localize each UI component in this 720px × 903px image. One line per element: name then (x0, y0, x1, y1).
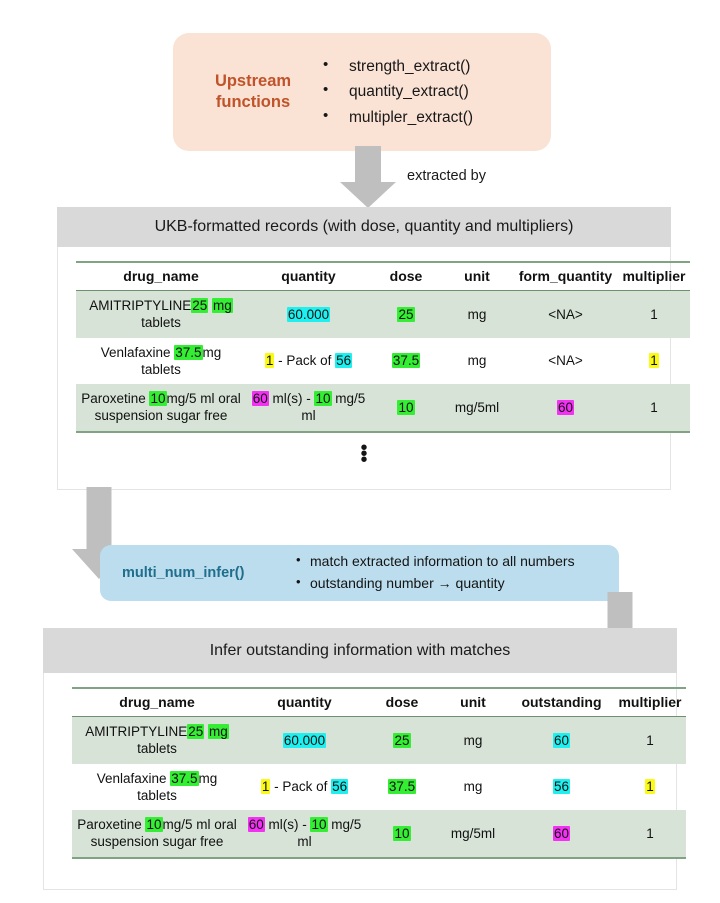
table-cell-multiplier: 1 (618, 384, 690, 432)
table-row: Paroxetine 10mg/5 ml oral suspension sug… (76, 384, 690, 432)
upstream-title-line-1: Upstream (191, 71, 315, 92)
ukb-records-panel-header: UKB-formatted records (with dose, quanti… (57, 207, 671, 247)
table-cell-quantity: 60.000 (242, 717, 367, 764)
table-row: AMITRIPTYLINE25 mg tablets60.00025mg601 (72, 717, 686, 764)
table-cell-outstanding: 60 (509, 717, 614, 764)
table-cell-dose: 25 (367, 717, 437, 764)
infer-bullet-label: outstanding number → quantity (310, 575, 505, 591)
table-cell-multiplier: 1 (618, 338, 690, 385)
column-header-drug-name: drug_name (72, 688, 242, 717)
table-cell-unit: mg (437, 717, 509, 764)
bullet-icon: • (323, 78, 328, 102)
table-cell-multiplier: 1 (614, 764, 686, 811)
bullet-icon: • (296, 572, 301, 592)
arrow-label-extracted-by: extracted by (407, 168, 486, 184)
multi-num-infer-function-name: multi_num_infer() (122, 565, 292, 581)
text-segment: - Pack of (274, 353, 335, 368)
infer-results-table: drug_name quantity dose unit outstanding… (72, 687, 686, 859)
highlight-green: mg (212, 298, 233, 313)
upstream-function-label: quantity_extract() (349, 83, 469, 100)
highlight-green: 37.5 (392, 353, 420, 368)
highlight-cyan: 56 (335, 353, 352, 368)
list-item: • outstanding number → quantity (310, 573, 575, 595)
bullet-icon: • (296, 550, 301, 570)
text-segment: tablets (137, 741, 177, 756)
highlight-yellow: 1 (645, 779, 655, 794)
table-cell-drug-name: Venlafaxine 37.5mg tablets (76, 338, 246, 385)
text-segment: 1 (646, 733, 654, 748)
table-cell-drug-name: AMITRIPTYLINE25 mg tablets (76, 291, 246, 338)
table-cell-drug-name: AMITRIPTYLINE25 mg tablets (72, 717, 242, 764)
table-cell-dose: 10 (367, 810, 437, 858)
text-segment: mg (468, 353, 487, 368)
highlight-cyan: 60.000 (283, 733, 326, 748)
table-row: Paroxetine 10mg/5 ml oral suspension sug… (72, 810, 686, 858)
table-row: Venlafaxine 37.5mg tablets1 - Pack of 56… (76, 338, 690, 385)
infer-results-panel: Infer outstanding information with match… (43, 628, 677, 890)
table-cell-form-quantity: <NA> (513, 338, 618, 385)
text-segment: 1 (650, 307, 658, 322)
ukb-records-table: drug_name quantity dose unit form_quanti… (76, 261, 690, 433)
upstream-function-label: strength_extract() (349, 58, 470, 75)
text-segment: Venlafaxine (97, 771, 171, 786)
text-segment: tablets (141, 315, 181, 330)
upstream-function-label: multipler_extract() (349, 109, 473, 126)
highlight-green: 25 (187, 724, 204, 739)
arrow-stem (87, 487, 112, 549)
highlight-green: 37.5 (388, 779, 416, 794)
table-cell-outstanding: 56 (509, 764, 614, 811)
highlight-cyan: 56 (553, 779, 570, 794)
table-cell-quantity: 60.000 (246, 291, 371, 338)
arrow-down-icon-extracted-by (340, 146, 396, 208)
highlight-green: 10 (149, 391, 166, 406)
table-header-row: drug_name quantity dose unit form_quanti… (76, 262, 690, 291)
infer-results-table-body: AMITRIPTYLINE25 mg tablets60.00025mg601V… (72, 717, 686, 858)
infer-bullet-label: match extracted information to all numbe… (310, 553, 575, 569)
table-cell-quantity: 60 ml(s) - 10 mg/5 ml (246, 384, 371, 432)
column-header-unit: unit (437, 688, 509, 717)
table-cell-drug-name: Paroxetine 10mg/5 ml oral suspension sug… (72, 810, 242, 858)
highlight-yellow: 1 (649, 353, 659, 368)
table-row: AMITRIPTYLINE25 mg tablets60.00025mg<NA>… (76, 291, 690, 338)
table-cell-dose: 37.5 (367, 764, 437, 811)
highlight-green: 10 (397, 400, 414, 415)
ukb-records-panel: UKB-formatted records (with dose, quanti… (57, 207, 671, 490)
text-segment: Paroxetine (81, 391, 149, 406)
text-segment: AMITRIPTYLINE (89, 298, 191, 313)
table-cell-dose: 25 (371, 291, 441, 338)
highlight-green: 25 (191, 298, 208, 313)
column-header-form-quantity: form_quantity (513, 262, 618, 291)
list-item: • match extracted information to all num… (310, 551, 575, 573)
table-header-row: drug_name quantity dose unit outstanding… (72, 688, 686, 717)
column-header-dose: dose (371, 262, 441, 291)
text-segment: ml(s) - (269, 391, 315, 406)
multi-num-infer-box: multi_num_infer() • match extracted info… (100, 545, 619, 601)
highlight-cyan: 56 (331, 779, 348, 794)
text-segment: AMITRIPTYLINE (85, 724, 187, 739)
text-segment: mg/5ml (455, 400, 499, 415)
upstream-title-line-2: functions (191, 92, 315, 113)
ukb-records-table-body: AMITRIPTYLINE25 mg tablets60.00025mg<NA>… (76, 291, 690, 432)
highlight-cyan: 60 (553, 733, 570, 748)
table-cell-unit: mg (437, 764, 509, 811)
text-segment: 1 (646, 826, 654, 841)
upstream-functions-box: Upstream functions • strength_extract() … (173, 33, 551, 151)
table-cell-form-quantity: 60 (513, 384, 618, 432)
table-cell-unit: mg (441, 338, 513, 385)
infer-results-panel-header: Infer outstanding information with match… (43, 628, 677, 673)
highlight-yellow: 1 (265, 353, 275, 368)
ukb-records-panel-body: drug_name quantity dose unit form_quanti… (57, 247, 671, 490)
text-segment: - Pack of (270, 779, 331, 794)
bullet-icon: • (323, 53, 328, 77)
column-header-multiplier: multiplier (614, 688, 686, 717)
highlight-cyan: 60.000 (287, 307, 330, 322)
text-segment: ml(s) - (265, 817, 311, 832)
table-cell-unit: mg/5ml (441, 384, 513, 432)
text-segment: <NA> (548, 307, 583, 322)
table-cell-quantity: 1 - Pack of 56 (242, 764, 367, 811)
list-item: • quantity_extract() (349, 79, 537, 104)
table-cell-dose: 37.5 (371, 338, 441, 385)
table-cell-dose: 10 (371, 384, 441, 432)
highlight-yellow: 1 (261, 779, 271, 794)
column-header-unit: unit (441, 262, 513, 291)
column-header-dose: dose (367, 688, 437, 717)
highlight-green: 25 (397, 307, 414, 322)
highlight-magenta: 60 (553, 826, 570, 841)
table-cell-multiplier: 1 (614, 810, 686, 858)
highlight-green: 10 (393, 826, 410, 841)
table-cell-outstanding: 60 (509, 810, 614, 858)
vertical-ellipsis-icon: ••• (58, 445, 670, 463)
text-segment: 1 (650, 400, 658, 415)
table-cell-unit: mg (441, 291, 513, 338)
column-header-multiplier: multiplier (618, 262, 690, 291)
text-segment: <NA> (548, 353, 583, 368)
arrow-stem (355, 146, 381, 182)
table-cell-multiplier: 1 (614, 717, 686, 764)
text-segment: Venlafaxine (101, 345, 175, 360)
column-header-quantity: quantity (242, 688, 367, 717)
highlight-magenta: 60 (557, 400, 574, 415)
text-segment: mg (468, 307, 487, 322)
highlight-magenta: 60 (252, 391, 269, 406)
table-cell-drug-name: Paroxetine 10mg/5 ml oral suspension sug… (76, 384, 246, 432)
table-cell-drug-name: Venlafaxine 37.5mg tablets (72, 764, 242, 811)
highlight-green: 10 (310, 817, 327, 832)
text-segment: Paroxetine (77, 817, 145, 832)
table-cell-form-quantity: <NA> (513, 291, 618, 338)
table-cell-quantity: 60 ml(s) - 10 mg/5 ml (242, 810, 367, 858)
upstream-functions-list: • strength_extract() • quantity_extract(… (315, 54, 537, 129)
list-item: • strength_extract() (349, 54, 537, 79)
table-cell-multiplier: 1 (618, 291, 690, 338)
highlight-green: 10 (145, 817, 162, 832)
table-row: Venlafaxine 37.5mg tablets1 - Pack of 56… (72, 764, 686, 811)
table-cell-unit: mg/5ml (437, 810, 509, 858)
list-item: • multipler_extract() (349, 105, 537, 130)
highlight-green: 37.5 (170, 771, 198, 786)
infer-results-panel-body: drug_name quantity dose unit outstanding… (43, 673, 677, 890)
text-segment: mg/5ml (451, 826, 495, 841)
highlight-green: mg (208, 724, 229, 739)
upstream-functions-title: Upstream functions (191, 71, 315, 112)
text-segment: mg (464, 733, 483, 748)
column-header-drug-name: drug_name (76, 262, 246, 291)
column-header-outstanding: outstanding (509, 688, 614, 717)
highlight-green: 37.5 (174, 345, 202, 360)
column-header-quantity: quantity (246, 262, 371, 291)
arrow-head (340, 182, 396, 208)
highlight-green: 10 (314, 391, 331, 406)
highlight-magenta: 60 (248, 817, 265, 832)
highlight-green: 25 (393, 733, 410, 748)
bullet-icon: • (323, 104, 328, 128)
multi-num-infer-bullet-list: • match extracted information to all num… (292, 551, 575, 594)
table-cell-quantity: 1 - Pack of 56 (246, 338, 371, 385)
text-segment: mg (464, 779, 483, 794)
